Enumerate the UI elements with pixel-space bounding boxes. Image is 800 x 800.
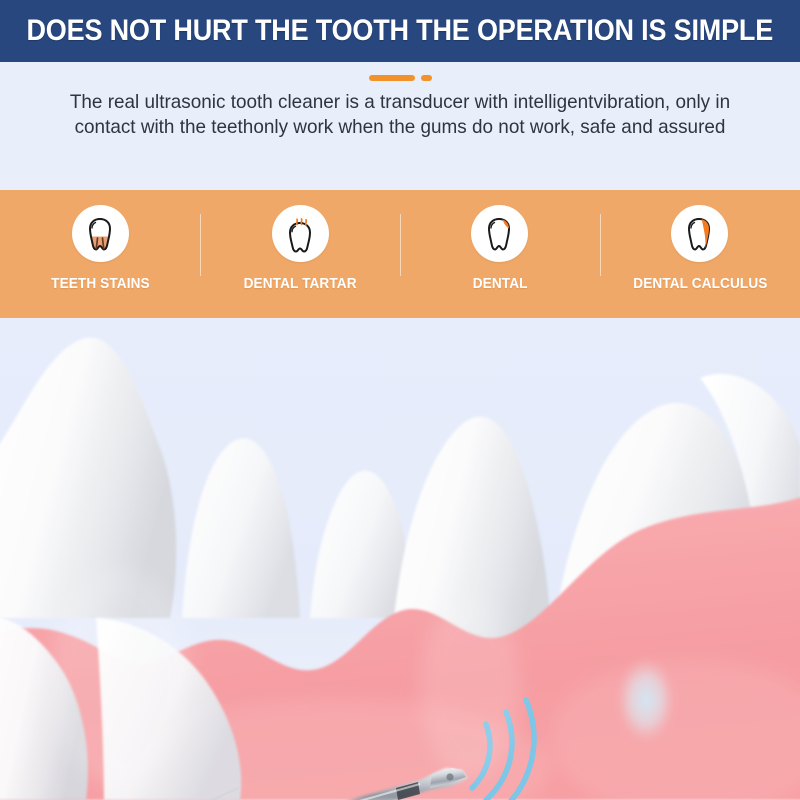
headline-band: DOES NOT HURT THE TOOTH THE OPERATION IS… xyxy=(0,0,800,62)
feature-item-dental-tartar[interactable]: DENTAL TARTAR xyxy=(200,190,400,318)
ornament-bar-icon xyxy=(369,75,415,81)
glow-spot xyxy=(616,656,676,744)
page-title: DOES NOT HURT THE TOOTH THE OPERATION IS… xyxy=(27,14,774,48)
feature-item-teeth-stains[interactable]: TEETH STAINS xyxy=(0,190,200,318)
feature-item-dental[interactable]: DENTAL xyxy=(400,190,600,318)
ornament-dot-icon xyxy=(421,75,432,81)
tooth-stained-gums-icon xyxy=(72,205,129,262)
feature-item-dental-calculus[interactable]: DENTAL CALCULUS xyxy=(600,190,800,318)
feature-label: TEETH STAINS xyxy=(51,276,150,292)
product-photo xyxy=(0,318,800,800)
tooth-tartar-squiggle-icon xyxy=(272,205,329,262)
feature-label: DENTAL xyxy=(473,276,528,292)
feature-label: DENTAL CALCULUS xyxy=(633,276,767,292)
feature-strip: TEETH STAINS DENTAL TARTAR xyxy=(0,190,800,318)
tooth-large-calculus-icon xyxy=(671,205,728,262)
product-banner: DOES NOT HURT THE TOOTH THE OPERATION IS… xyxy=(0,0,800,800)
intro-section: The real ultrasonic tooth cleaner is a t… xyxy=(0,62,800,190)
feature-label: DENTAL TARTAR xyxy=(243,276,356,292)
intro-paragraph: The real ultrasonic tooth cleaner is a t… xyxy=(41,90,759,140)
tooth-small-plaque-icon xyxy=(471,205,528,262)
divider-ornament xyxy=(369,74,432,81)
